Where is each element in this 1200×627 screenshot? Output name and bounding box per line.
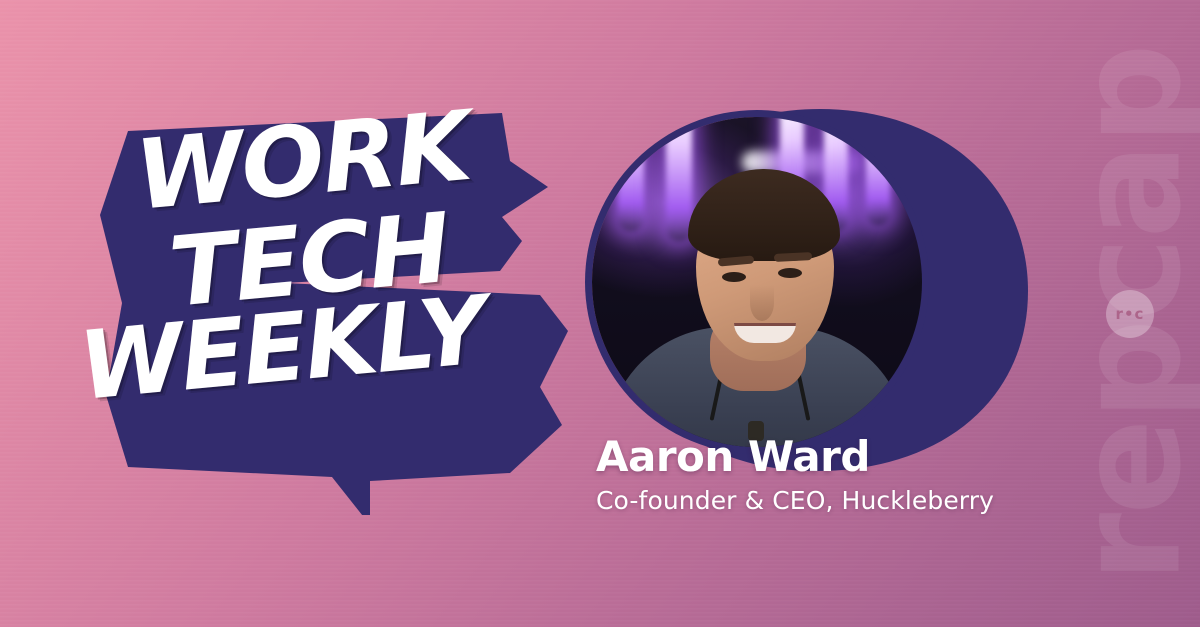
portrait-nose — [750, 285, 774, 321]
portrait-eye-right — [778, 268, 802, 278]
neon-light-2 — [666, 117, 692, 241]
speaker-name: Aaron Ward — [596, 436, 1116, 478]
speaker-photo — [592, 117, 922, 447]
neon-light-1 — [618, 117, 644, 231]
speech-bubble-shape — [70, 95, 590, 515]
speaker-portrait-group — [570, 95, 1040, 485]
portrait-hair — [688, 169, 840, 261]
brand-watermark: repcap r•c — [1060, 0, 1200, 627]
speaker-avatar — [592, 117, 922, 447]
speaker-caption: Aaron Ward Co-founder & CEO, Huckleberry — [596, 436, 1116, 515]
neon-light-5 — [866, 117, 890, 225]
speaker-role: Co-founder & CEO, Huckleberry — [596, 487, 1116, 515]
promo-graphic-canvas: repcap r•c WORK TECH WEEKLY — [0, 0, 1200, 627]
series-title-bubble: WORK TECH WEEKLY — [70, 95, 590, 515]
repcap-logo-badge: r•c — [1106, 290, 1154, 338]
portrait-eye-left — [722, 272, 746, 282]
